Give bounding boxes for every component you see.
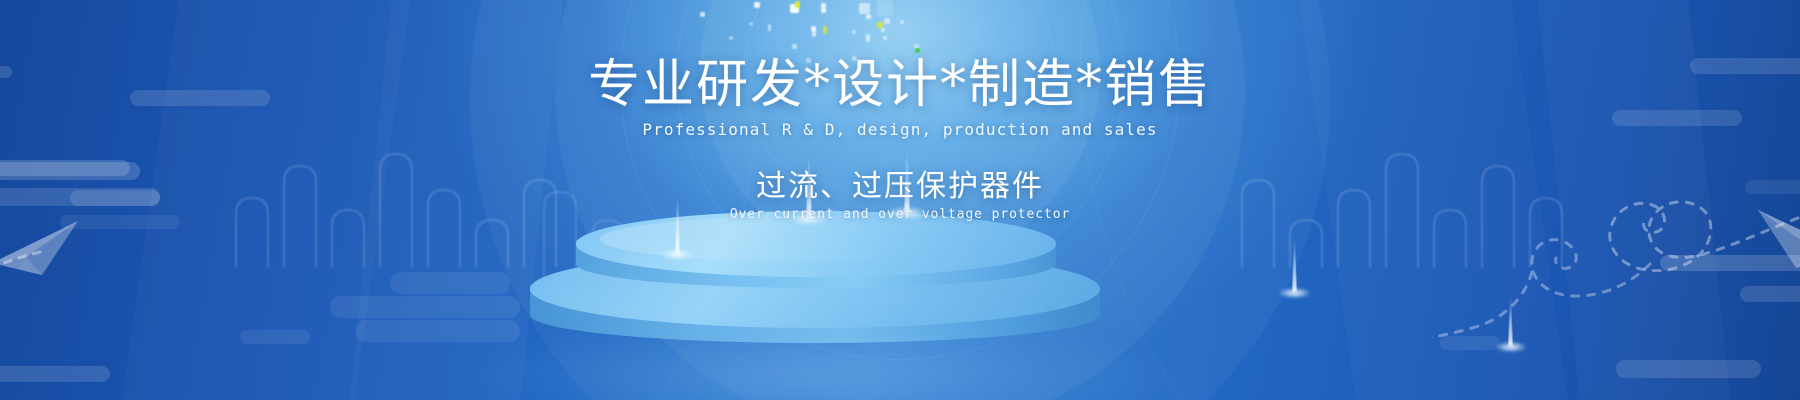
podium-light-pad (1496, 342, 1526, 352)
particle (754, 2, 760, 8)
particle (823, 26, 827, 34)
particle (914, 44, 919, 49)
capsule-bar (1616, 360, 1761, 378)
particle (729, 36, 733, 40)
banner-copy: 专业研发*设计*制造*销售 Professional R & D, design… (0, 56, 1800, 222)
hero-banner: 专业研发*设计*制造*销售 Professional R & D, design… (0, 0, 1800, 400)
podium-light-pad (661, 249, 694, 260)
particle (795, 1, 800, 8)
particle (792, 44, 797, 49)
podium-light-pad (1279, 288, 1310, 298)
podium-lower-side (530, 285, 1100, 343)
podium-light-beam (1292, 238, 1297, 292)
subheadline-chinese: 过流、过压保护器件 (0, 161, 1800, 205)
particle (811, 26, 816, 31)
particle (768, 24, 771, 31)
capsule-bar (1660, 255, 1800, 271)
particle (881, 28, 885, 32)
particle (900, 20, 904, 24)
podium-sheen (600, 216, 1020, 262)
particle (877, 0, 893, 16)
particle (883, 36, 887, 40)
capsule-bar (390, 272, 510, 294)
particle (866, 34, 870, 42)
particle (859, 3, 870, 14)
capsule-bar (0, 366, 110, 382)
headline-english: Professional R & D, design, production a… (0, 120, 1800, 139)
particle (866, 14, 871, 19)
capsule-bar (240, 330, 310, 344)
particle (915, 48, 920, 53)
capsule-bar (330, 296, 520, 318)
particle (821, 3, 826, 13)
particle (877, 22, 883, 28)
particle (884, 18, 890, 24)
particle (700, 12, 705, 17)
particle (812, 28, 816, 37)
podium-floor-glow (480, 320, 1160, 400)
podium-light-beam (1508, 296, 1513, 346)
podium-lower-top (530, 250, 1100, 328)
particle (790, 4, 799, 13)
flight-trail-left (0, 248, 60, 328)
particle (749, 22, 753, 26)
headline-chinese: 专业研发*设计*制造*销售 (0, 56, 1800, 114)
capsule-bar (1440, 336, 1500, 350)
capsule-bar (1740, 286, 1800, 302)
particle (852, 30, 856, 34)
podium-upper-side (576, 240, 1056, 288)
capsule-bar (355, 320, 520, 342)
subheadline-english: Over current and over voltage protector (0, 207, 1800, 222)
